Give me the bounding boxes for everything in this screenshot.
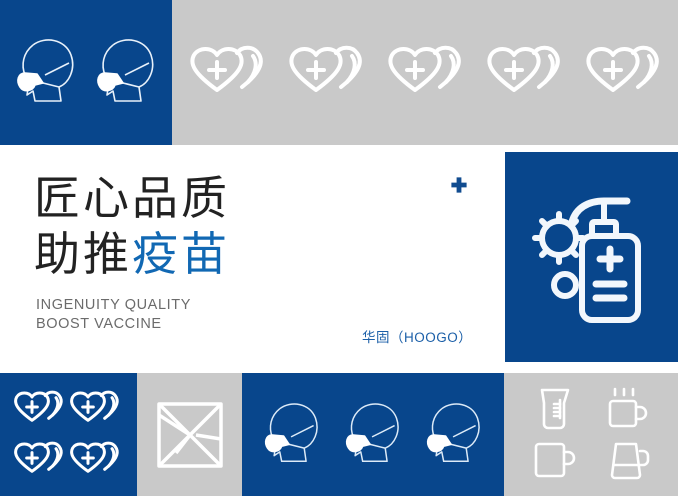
- placeholder-center: [137, 373, 242, 496]
- heart-icon-row: [182, 0, 678, 145]
- mug-icon: [533, 440, 577, 480]
- double-heart-plus-icon: [14, 440, 70, 480]
- masked-head-icon: [93, 33, 159, 113]
- double-heart-plus-icon: [289, 44, 373, 102]
- double-heart-plus-icon: [70, 440, 126, 480]
- subtitle-line-1: INGENUITY QUALITY: [36, 296, 191, 315]
- double-heart-plus-icon: [190, 44, 274, 102]
- bottom-left-heart-panel: [0, 373, 137, 496]
- headline-line-2-plain: 助推: [34, 228, 132, 280]
- subtitle-block: INGENUITY QUALITY BOOST VACCINE: [36, 296, 191, 334]
- headline-line-1: 匠心品质: [34, 170, 230, 226]
- mask-icon-row-bottom: [242, 373, 504, 496]
- sanitizer-icon-group: [505, 152, 678, 362]
- headline-line-2: 助推疫苗: [34, 226, 230, 282]
- measuring-beaker-icon: [536, 387, 574, 431]
- headline-line-2-accent: 疫苗: [132, 228, 230, 280]
- heart-icon-grid: [0, 373, 137, 496]
- masked-head-icon: [13, 33, 79, 113]
- double-heart-plus-icon: [487, 44, 571, 102]
- mask-icon-row: [0, 0, 172, 145]
- bottom-mask-panel: [242, 373, 504, 496]
- masked-head-icon: [342, 397, 404, 473]
- top-left-mask-panel: [0, 0, 172, 145]
- headline-card: 匠心品质 助推疫苗 INGENUITY QUALITY BOOST VACCIN…: [0, 148, 503, 362]
- subtitle-line-2: BOOST VACCINE: [36, 315, 191, 334]
- steaming-mug-icon: [606, 387, 650, 431]
- sanitizer-panel: [505, 152, 678, 362]
- plus-icon: [449, 176, 469, 196]
- top-gray-heart-band: [172, 0, 678, 145]
- broken-image-placeholder-icon: [156, 401, 224, 469]
- bottom-vessel-panel: [504, 373, 678, 496]
- headline-block: 匠心品质 助推疫苗: [34, 170, 230, 282]
- bottom-image-placeholder-panel: [137, 373, 242, 496]
- vessel-icon-grid: [504, 373, 678, 496]
- masked-head-icon: [423, 397, 485, 473]
- double-heart-plus-icon: [14, 389, 70, 429]
- double-heart-plus-icon: [388, 44, 472, 102]
- double-heart-plus-icon: [70, 389, 126, 429]
- brand-name: 华固（HOOGO）: [362, 326, 472, 346]
- kettle-icon: [606, 439, 650, 481]
- double-heart-plus-icon: [586, 44, 670, 102]
- poster-canvas: 匠心品质 助推疫苗 INGENUITY QUALITY BOOST VACCIN…: [0, 0, 678, 496]
- masked-head-icon: [261, 397, 323, 473]
